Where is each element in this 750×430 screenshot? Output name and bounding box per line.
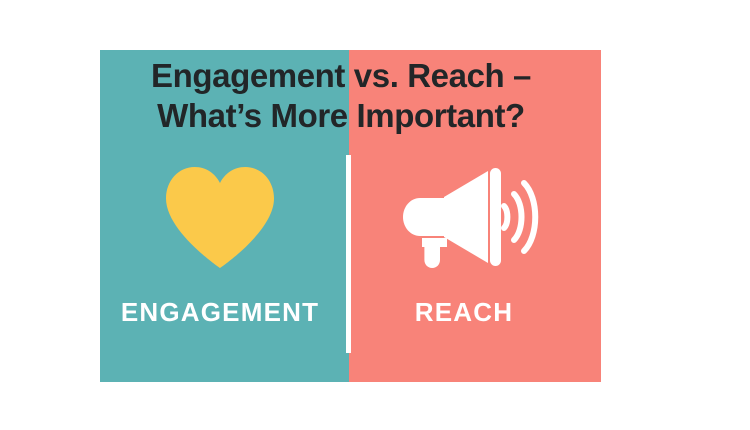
- engagement-vs-reach-infographic: Engagement vs. Reach – What’s More Impor…: [0, 0, 750, 430]
- heart-icon: [160, 165, 280, 269]
- panel-divider: [346, 155, 351, 353]
- page-title-line-1: Engagement vs. Reach –: [100, 56, 582, 96]
- caption-reach: REACH: [382, 297, 546, 327]
- page-title-line-2: What’s More Important?: [100, 96, 582, 136]
- caption-engagement: ENGAGEMENT: [110, 297, 330, 327]
- page-title: Engagement vs. Reach – What’s More Impor…: [100, 56, 582, 136]
- megaphone-icon: [400, 165, 540, 269]
